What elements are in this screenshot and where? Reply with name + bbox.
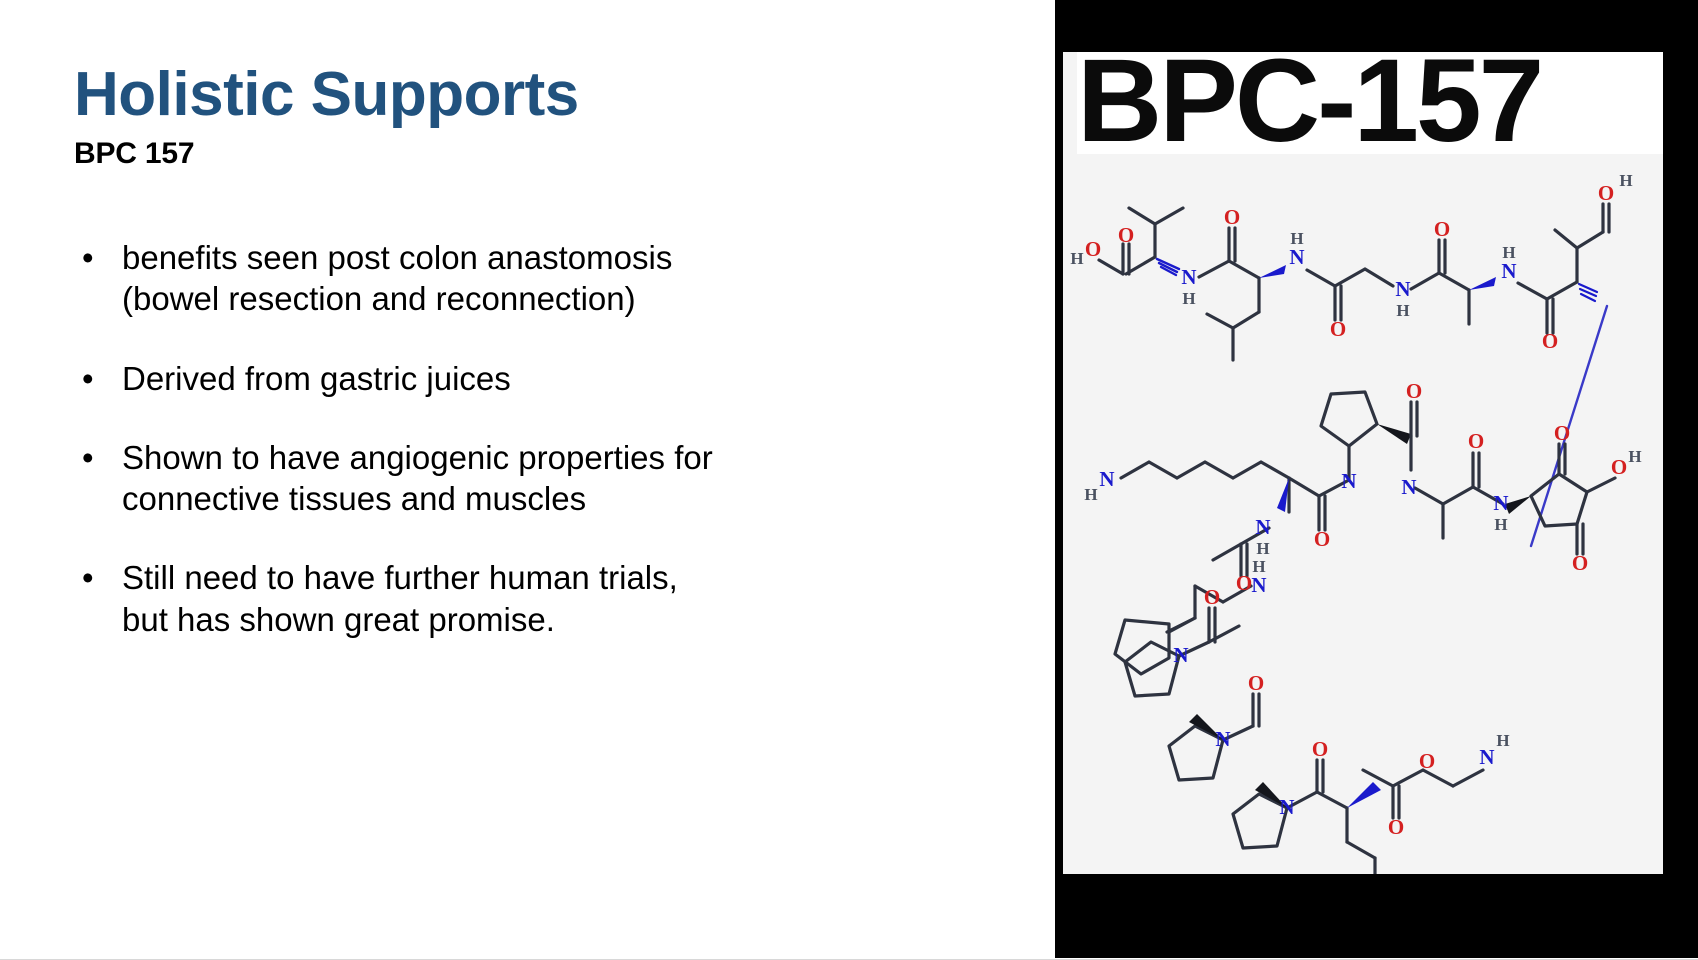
svg-text:O: O [1236,571,1252,595]
svg-text:O: O [1314,527,1330,551]
page-title: Holistic Supports [74,62,1015,127]
svg-text:O: O [1312,737,1328,761]
svg-text:O: O [1434,217,1450,241]
svg-text:N: N [1215,727,1230,751]
svg-text:O: O [1118,223,1134,247]
svg-text:H: H [1252,557,1265,576]
svg-text:N: N [1099,467,1114,491]
list-item: • Derived from gastric juices [74,358,714,399]
bullet-list: • benefits seen post colon anastomosis (… [74,237,714,640]
svg-text:O: O [1468,429,1484,453]
svg-text:H: H [1070,249,1083,268]
bullet-point-icon: • [82,437,94,478]
svg-text:H: H [1290,229,1303,248]
svg-text:N: N [1501,259,1516,283]
molecule-image-frame: BPC-157 [1063,52,1663,874]
svg-text:H: H [1628,447,1641,466]
svg-text:O: O [1085,237,1101,261]
svg-text:N: N [1493,491,1508,515]
svg-text:H: H [1619,171,1632,190]
svg-text:H: H [1494,515,1507,534]
nitrogen-atom-label: N N N N N N N N N N N N N [1099,245,1516,819]
svg-text:N: N [1255,515,1270,539]
svg-text:N: N [1395,277,1410,301]
svg-text:N: N [1341,469,1356,493]
list-item-text: Derived from gastric juices [122,360,511,397]
svg-text:N: N [1479,745,1494,769]
slide-text-column: Holistic Supports BPC 157 • benefits see… [0,0,1055,960]
svg-text:O: O [1388,815,1404,839]
svg-text:O: O [1598,181,1614,205]
svg-text:N: N [1173,643,1188,667]
molecule-panel: BPC-157 [1055,0,1698,958]
list-item: • benefits seen post colon anastomosis (… [74,237,714,320]
page-subtitle: BPC 157 [74,137,1015,171]
svg-text:H: H [1496,731,1509,750]
svg-text:N: N [1279,795,1294,819]
svg-text:O: O [1572,551,1588,575]
bpc-157-molecule-diagram: O O O O O O O O O O O O O [1063,156,1663,874]
svg-text:O: O [1330,317,1346,341]
svg-text:H: H [1502,243,1515,262]
svg-text:N: N [1181,265,1196,289]
svg-text:N: N [1251,573,1266,597]
svg-text:O: O [1224,205,1240,229]
svg-text:H: H [1182,289,1195,308]
svg-text:O: O [1204,585,1220,609]
svg-text:H: H [1256,539,1269,558]
svg-text:O: O [1248,671,1264,695]
svg-text:O: O [1611,455,1627,479]
svg-text:O: O [1554,421,1570,445]
bullet-point-icon: • [82,557,94,598]
svg-text:O: O [1406,379,1422,403]
slide-canvas: Holistic Supports BPC 157 • benefits see… [0,0,1698,960]
list-item-text: benefits seen post colon anastomosis (bo… [122,239,672,317]
svg-text:H: H [1396,301,1409,320]
svg-text:H: H [1084,485,1097,504]
list-item-text: Shown to have angiogenic properties for … [122,439,713,517]
svg-text:N: N [1401,475,1416,499]
list-item: • Still need to have further human trial… [74,557,714,640]
svg-text:O: O [1419,749,1435,773]
hydrogen-atom-label: H H H H H H H H H H H H H [1070,171,1641,874]
bullet-point-icon: • [82,358,94,399]
svg-text:N: N [1289,245,1304,269]
list-item-text: Still need to have further human trials,… [122,559,678,637]
bullet-point-icon: • [82,237,94,278]
list-item: • Shown to have angiogenic properties fo… [74,437,714,520]
bpc-157-wordmark: BPC-157 [1077,52,1663,154]
svg-text:O: O [1542,329,1558,353]
